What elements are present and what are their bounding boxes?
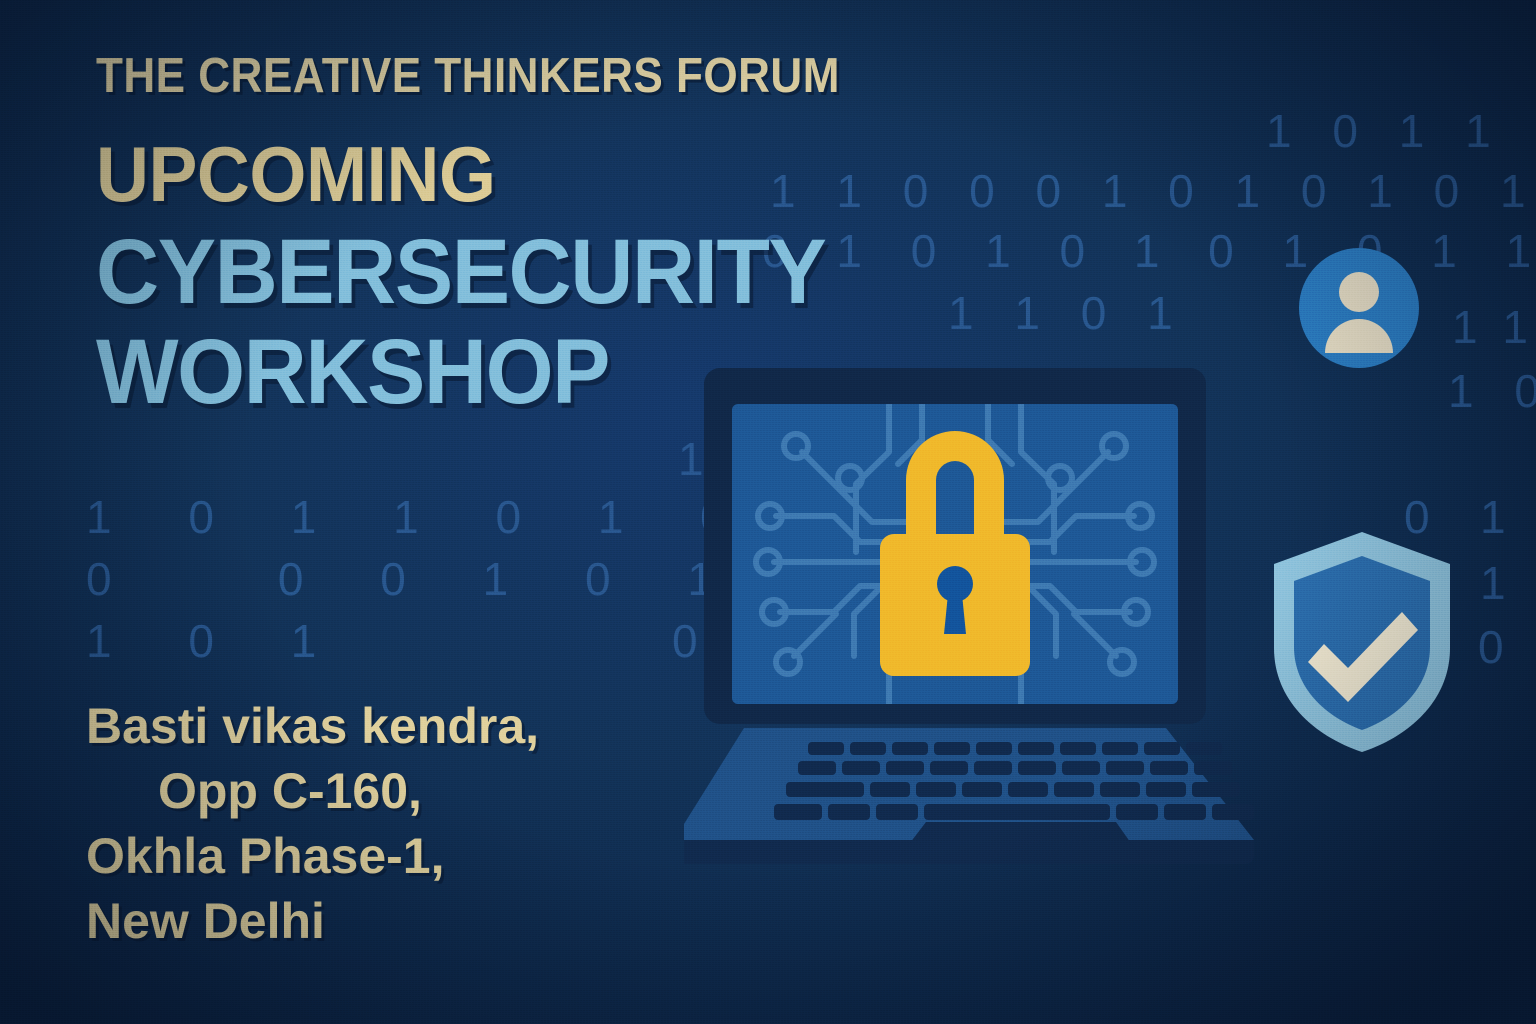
binary-row: 1 1 0 1 <box>948 286 1187 340</box>
user-avatar-icon <box>1296 245 1422 371</box>
address-line-4: New Delhi <box>86 889 646 954</box>
binary-row: 1 <box>1480 556 1520 610</box>
trackpad-surface <box>900 822 1140 856</box>
headline-upcoming: UPCOMING <box>96 137 876 212</box>
headline-block: THE CREATIVE THINKERS FORUM UPCOMING CYB… <box>96 52 926 420</box>
binary-row: 1 1 <box>1452 300 1534 354</box>
address-line-2: Opp C-160, <box>86 759 646 824</box>
poster-canvas: 1 0 1 11 1 0 0 0 1 0 1 0 1 0 1 0 10 1 0 … <box>0 0 1536 1024</box>
headline-workshop: WORKSHOP <box>96 326 885 420</box>
binary-row: 0 <box>1478 620 1518 674</box>
laptop-icon <box>684 356 1334 876</box>
address-line-1: Basti vikas kendra, <box>86 694 646 759</box>
binary-row: 1 0 1 <box>86 614 348 668</box>
binary-row: 1 0 1 1 <box>1266 104 1505 158</box>
binary-row: 1 0 <box>1448 364 1536 418</box>
venue-address-block: Basti vikas kendra, Opp C-160, Okhla Pha… <box>86 694 646 954</box>
organization-name: THE CREATIVE THINKERS FORUM <box>96 52 843 101</box>
headline-cybersecurity: CYBERSECURITY <box>96 226 885 320</box>
address-line-3: Okhla Phase-1, <box>86 824 646 889</box>
binary-row: 1 <box>1480 490 1520 544</box>
shield-check-icon <box>1268 528 1456 756</box>
